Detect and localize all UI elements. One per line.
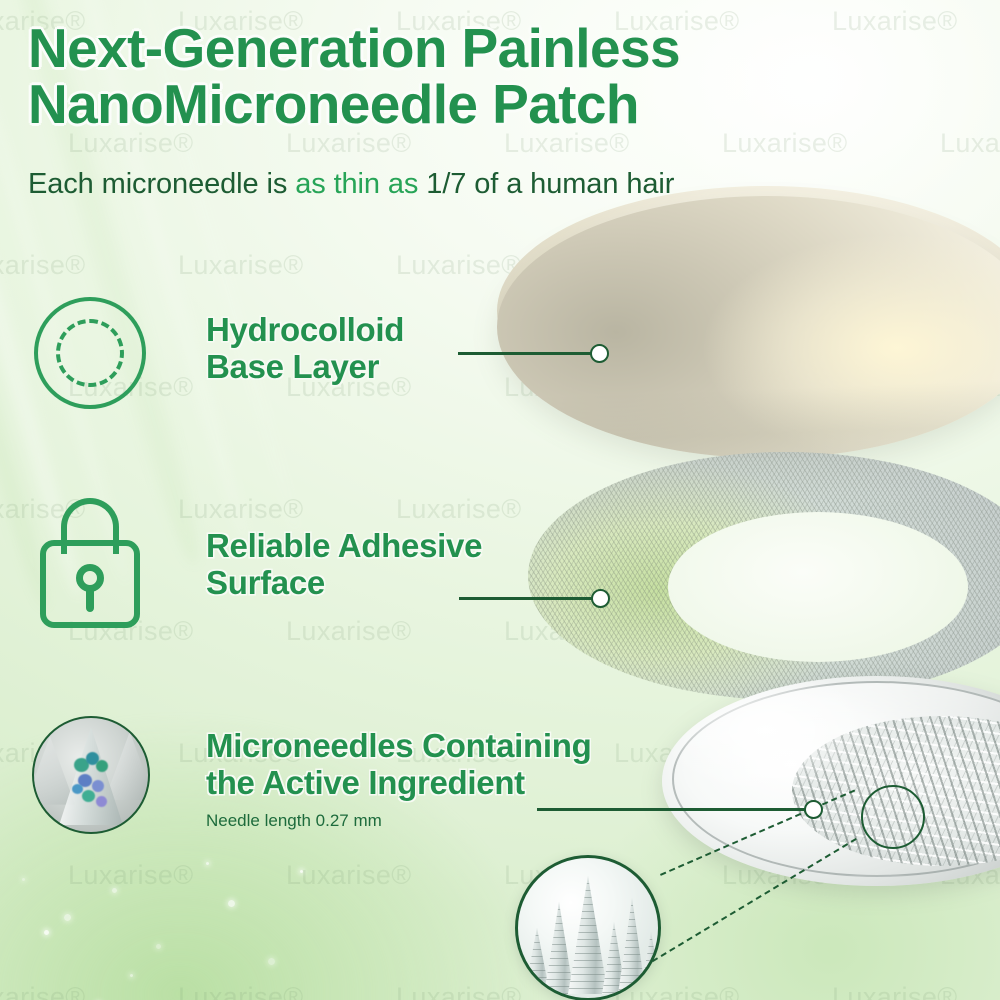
headline-line-1: Next-Generation Painless xyxy=(28,17,680,79)
headline-line-2: NanoMicroneedle Patch xyxy=(28,76,788,132)
page-subtitle: Each microneedle is as thin as 1/7 of a … xyxy=(28,168,674,201)
particle xyxy=(72,784,83,794)
feature-title-line-1: Hydrocolloid xyxy=(206,311,404,348)
page-title: Next-Generation Painless NanoMicroneedle… xyxy=(28,20,788,132)
lock-icon xyxy=(38,498,142,630)
infographic-canvas: Luxarise®Luxarise®Luxarise®Luxarise®Luxa… xyxy=(0,0,1000,1000)
feature-title-line-2: the Active Ingredient xyxy=(206,764,525,801)
feature-title-line-1: Microneedles Containing xyxy=(206,727,591,764)
feature-title-line-2: Surface xyxy=(206,564,325,601)
particle xyxy=(92,780,104,792)
particle xyxy=(96,796,107,807)
feature-title: Hydrocolloid Base Layer xyxy=(206,312,496,386)
feature-subtext-needle-length: Needle length 0.27 mm xyxy=(206,811,696,831)
subtitle-highlight: as thin as xyxy=(295,168,418,200)
photo-icon-facet xyxy=(32,736,75,804)
feature-title: Microneedles Containing the Active Ingre… xyxy=(206,728,696,802)
content-layer: Next-Generation Painless NanoMicroneedle… xyxy=(0,0,1000,1000)
photo-icon-needle-cone xyxy=(59,727,123,825)
subtitle-prefix: Each microneedle is xyxy=(28,168,295,200)
feature-microneedles-active-ingredient: Microneedles Containing the Active Ingre… xyxy=(206,728,696,831)
feature-title: Reliable Adhesive Surface xyxy=(206,528,566,602)
dashed-circle-icon-inner-ring xyxy=(56,319,124,387)
feature-hydrocolloid-base-layer: Hydrocolloid Base Layer xyxy=(206,312,496,386)
lock-icon-keyhole-stem xyxy=(86,586,94,612)
microneedle-photo-icon xyxy=(32,716,150,834)
subtitle-suffix: 1/7 of a human hair xyxy=(418,168,674,200)
feature-title-line-2: Base Layer xyxy=(206,348,379,385)
feature-title-line-1: Reliable Adhesive xyxy=(206,527,482,564)
dashed-circle-icon xyxy=(34,297,146,409)
particle xyxy=(82,790,95,802)
feature-reliable-adhesive-surface: Reliable Adhesive Surface xyxy=(206,528,566,602)
particle xyxy=(96,760,108,772)
photo-icon-facet xyxy=(105,732,150,800)
